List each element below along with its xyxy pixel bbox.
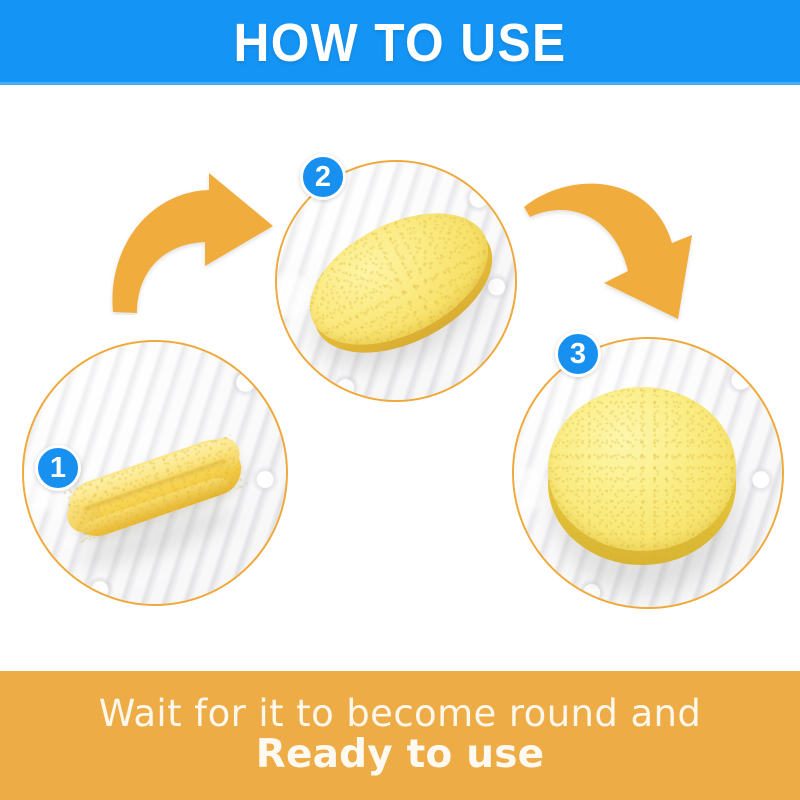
round-sponge xyxy=(548,387,736,565)
step-1-badge: 1 xyxy=(35,445,81,491)
arrow-step2-to-step3 xyxy=(520,173,710,328)
step-1: 1 xyxy=(22,340,284,602)
footer-line-2: Ready to use xyxy=(256,735,545,776)
page-title: HOW TO USE xyxy=(233,16,566,70)
step-2: 2 xyxy=(275,160,513,398)
step-3-number: 3 xyxy=(570,340,586,369)
how-to-use-infographic: HOW TO USE xyxy=(0,0,800,800)
steps-stage: 1 2 xyxy=(0,85,800,671)
step-2-number: 2 xyxy=(315,163,331,192)
footer-banner: Wait for it to become round and Ready to… xyxy=(0,671,800,800)
step-3: 3 xyxy=(512,337,780,605)
arrow-step1-to-step2 xyxy=(105,170,295,315)
footer-line-1: Wait for it to become round and xyxy=(99,695,702,734)
step-3-badge: 3 xyxy=(555,331,601,377)
step-3-photo xyxy=(512,337,784,609)
step-2-badge: 2 xyxy=(300,154,346,200)
step-1-number: 1 xyxy=(50,454,66,483)
header-banner: HOW TO USE xyxy=(0,0,800,85)
